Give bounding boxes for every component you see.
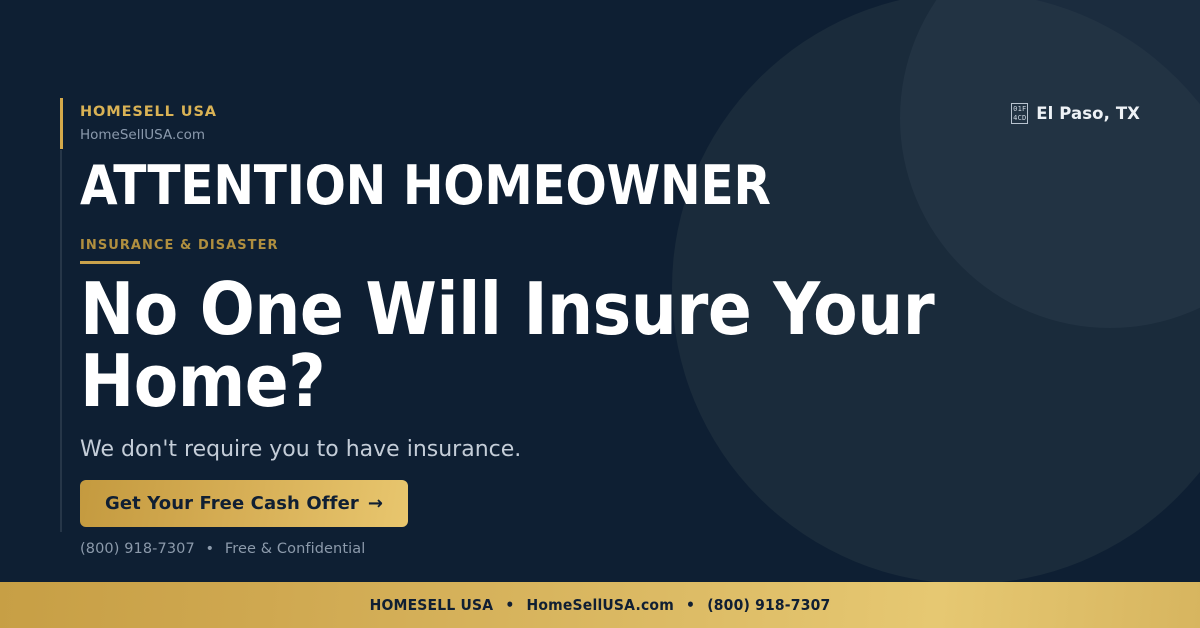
contact-line: (800) 918-7307 • Free & Confidential <box>80 541 365 557</box>
brand-website: HomeSellUSA.com <box>80 127 217 143</box>
tofu-codepoint-top: 01F <box>1013 105 1026 114</box>
footer-brand: HOMESELL USA <box>370 596 494 614</box>
cta-label: Get Your Free Cash Offer <box>105 493 359 514</box>
ad-content: HOMESELL USA HomeSellUSA.com 01F 4CD El … <box>0 0 1200 582</box>
tofu-codepoint-bottom: 4CD <box>1013 114 1026 123</box>
contact-phone[interactable]: (800) 918-7307 <box>80 541 195 557</box>
main-headline: No One Will Insure Your Home? <box>80 273 980 417</box>
arrow-right-icon: → <box>368 493 383 514</box>
location-badge: 01F 4CD El Paso, TX <box>1011 103 1140 124</box>
location-pin-icon: 01F 4CD <box>1011 103 1028 124</box>
footer-website[interactable]: HomeSellUSA.com <box>527 596 674 614</box>
footer-separator-1: • <box>498 596 521 614</box>
brand-name: HOMESELL USA <box>80 104 217 121</box>
location-label: El Paso, TX <box>1036 104 1140 123</box>
attention-headline: ATTENTION HOMEOWNER <box>80 158 771 215</box>
ad-banner: HOMESELL USA HomeSellUSA.com 01F 4CD El … <box>0 0 1200 628</box>
contact-separator: • <box>200 541 221 557</box>
footer-separator-2: • <box>679 596 702 614</box>
category-eyebrow: INSURANCE & DISASTER <box>80 238 279 253</box>
cash-offer-cta-button[interactable]: Get Your Free Cash Offer → <box>80 480 408 527</box>
footer-text: HOMESELL USA • HomeSellUSA.com • (800) 9… <box>370 596 831 614</box>
brand-block: HOMESELL USA HomeSellUSA.com <box>80 104 217 144</box>
eyebrow-underline-rule <box>80 261 140 264</box>
footer-bar: HOMESELL USA • HomeSellUSA.com • (800) 9… <box>0 582 1200 628</box>
contact-assurance: Free & Confidential <box>225 541 365 557</box>
sub-headline: We don't require you to have insurance. <box>80 436 521 465</box>
footer-phone[interactable]: (800) 918-7307 <box>707 596 830 614</box>
